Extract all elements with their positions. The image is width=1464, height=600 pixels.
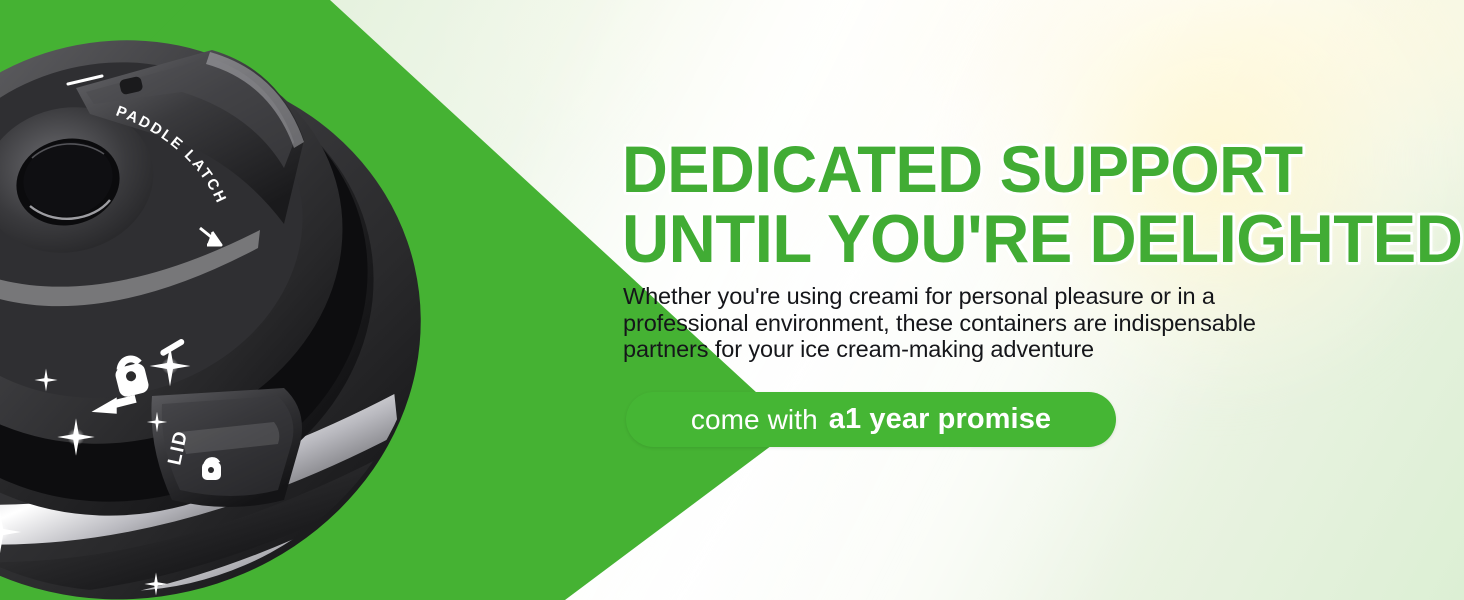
cta-promise-button[interactable]: come with a1 year promise (626, 392, 1116, 447)
body-copy-line-1: Whether you're using creami for personal… (623, 283, 1413, 310)
headline: DEDICATED SUPPORT UNTIL YOU'RE DELIGHTED (622, 134, 1462, 274)
headline-line-2: UNTIL YOU'RE DELIGHTED (622, 204, 1428, 274)
body-copy-line-2: professional environment, these containe… (623, 310, 1413, 337)
promotional-banner: PADDLE LATCH LID (0, 0, 1464, 600)
body-copy: Whether you're using creami for personal… (623, 283, 1413, 363)
cta-emphasis-label: a1 year promise (829, 403, 1051, 436)
headline-line-1: DEDICATED SUPPORT (622, 134, 1428, 204)
body-copy-line-3: partners for your ice cream-making adven… (623, 336, 1413, 363)
content-column: DEDICATED SUPPORT UNTIL YOU'RE DELIGHTED… (620, 0, 1464, 600)
cta-prefix-label: come with (691, 404, 818, 436)
